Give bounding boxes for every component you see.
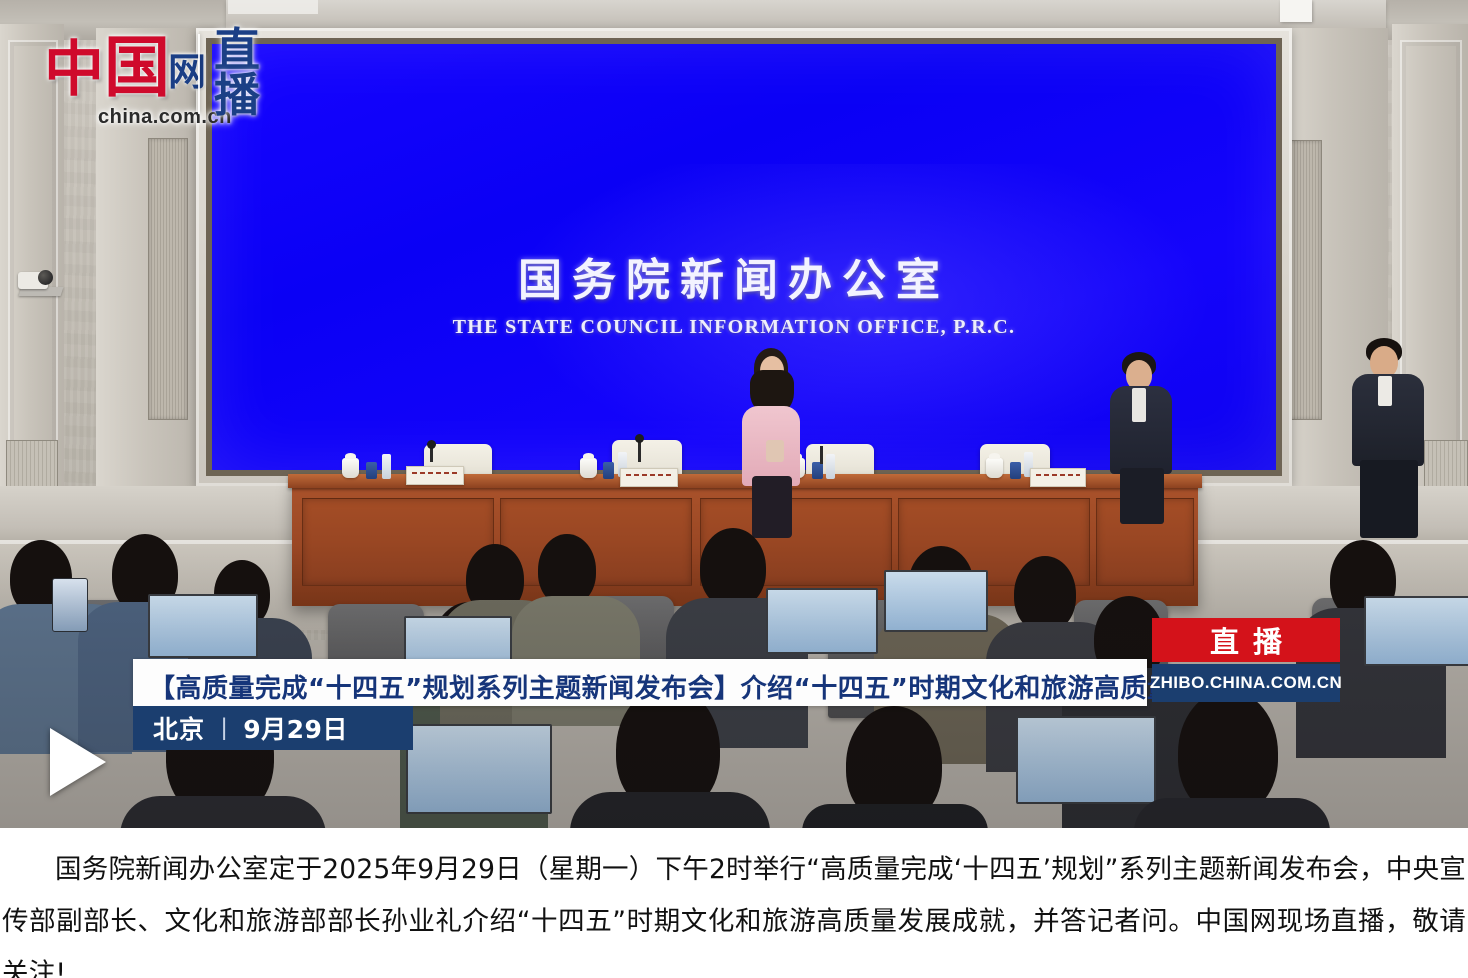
lower-third-separator: | [221,714,227,742]
live-badge-label: 直播 [1196,619,1296,661]
live-badge-red: 直播 [1152,618,1340,662]
microphone-stem-3 [820,446,823,464]
device-3 [812,462,823,479]
watermark-live-label: 直播 [214,28,270,118]
microphone-head-1 [427,440,436,449]
live-badge-url: ZHIBO.CHINA.COM.CN [1150,673,1342,693]
page-root: 国务院新闻办公室 THE STATE COUNCIL INFORMATION O… [0,0,1468,978]
microphone-head-2 [635,434,644,443]
video-player[interactable]: 国务院新闻办公室 THE STATE COUNCIL INFORMATION O… [0,0,1468,828]
channel-watermark: 中 国 网 china.com.cn [44,34,194,108]
nameplate-1 [406,466,464,485]
lower-third-headline-bar: 【高质量完成“十四五”规划系列主题新闻发布会】介绍“十四五”时期文化和旅游高质量… [133,659,1147,706]
live-badge-url-bar: ZHIBO.CHINA.COM.CN [1152,664,1340,702]
logo-char-wang: 网 [168,54,206,92]
teacup-1 [342,458,359,478]
lower-third-date: 9月29日 [243,710,348,746]
lower-third-city: 北京 [153,710,205,746]
screen-title-cn: 国务院新闻办公室 [0,244,1468,308]
teacup-2 [580,458,597,478]
nameplate-3 [1030,468,1086,487]
ceiling-light-strip [228,0,318,14]
logo-char-guo: 国 [104,36,170,102]
ceiling-corner-light [1280,0,1312,22]
caption-area: 国务院新闻办公室定于2025年9月29日（星期一）下午2时举行“高质量完成‘十四… [0,828,1468,978]
logo-char-zhong: 中 [44,40,104,100]
device-1 [366,462,377,479]
ceiling-soffit [226,0,1386,30]
device-4 [1010,462,1021,479]
nameplate-2 [620,468,678,487]
water-bottle-3 [826,454,835,479]
device-2 [603,462,614,479]
watermark-divider [198,34,200,114]
teacup-4 [986,458,1003,478]
logo-url: china.com.cn [98,106,232,129]
caption-text: 国务院新闻办公室定于2025年9月29日（星期一）下午2时举行“高质量完成‘十四… [0,828,1468,978]
lower-third-meta-bar: 北京 | 9月29日 [133,706,413,750]
led-screen-glow [512,164,1212,464]
water-bottle-1 [382,454,391,479]
china-net-logo: 中 国 网 [44,34,194,108]
play-button-icon[interactable] [50,728,106,796]
screen-title-en: THE STATE COUNCIL INFORMATION OFFICE, P.… [0,316,1468,339]
lower-third-headline: 【高质量完成“十四五”规划系列主题新闻发布会】介绍“十四五”时期文化和旅游高质量… [149,668,1279,705]
